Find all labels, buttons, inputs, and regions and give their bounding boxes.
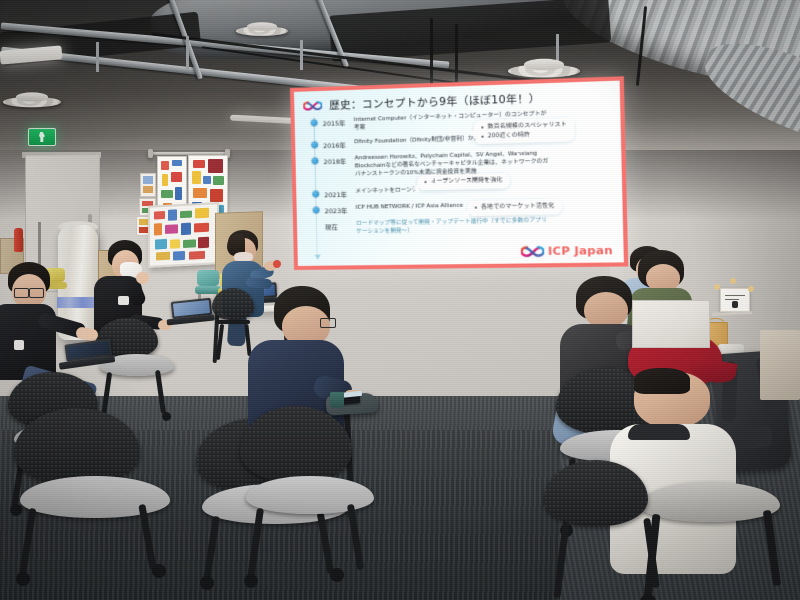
running-person-icon — [39, 132, 45, 142]
slide-footer-region: Japan — [574, 244, 613, 258]
timeline-dot — [311, 141, 318, 148]
chair-seat — [20, 476, 170, 518]
sign-decoration — [714, 284, 720, 290]
fire-extinguisher-icon — [14, 228, 23, 252]
chair-caster — [244, 574, 258, 588]
callout-tail — [469, 130, 475, 138]
tshirt-logo — [14, 340, 24, 350]
callout-item: 200近くの特許 — [480, 130, 567, 141]
timeline-dot — [311, 119, 318, 126]
exit-sign — [28, 128, 56, 146]
icp-infinity-logo-icon — [520, 245, 544, 259]
chair-caster — [200, 576, 214, 590]
hanger-rod-3 — [300, 40, 303, 70]
timeline-dot — [313, 206, 320, 213]
timeline-year: 2021年 — [324, 189, 350, 199]
chair-seat — [246, 476, 374, 514]
empty-chair-foreground-left[interactable] — [8, 408, 188, 578]
timeline-year: 現在 — [325, 222, 351, 231]
laptop-screen — [173, 300, 210, 317]
timeline-text: Dfinity Foundation（Dfinity財団/非営利）が設立 — [354, 135, 485, 147]
circular-air-diffuser-icon — [236, 26, 288, 36]
glasses-icon — [320, 318, 336, 328]
cardboard-stack — [760, 330, 800, 400]
sign-decoration-2 — [748, 286, 754, 292]
hair — [634, 368, 690, 394]
glasses-icon-2 — [29, 288, 44, 298]
drink-cup[interactable] — [330, 392, 344, 408]
slide-callout-2: オープンソース開発を強化 — [417, 173, 510, 190]
circular-air-diffuser-icon-2 — [508, 64, 580, 77]
hand — [136, 272, 149, 284]
callout-item: 各地でのマーケット活性化 — [474, 202, 555, 212]
slide-footer: ICP Japan — [520, 244, 613, 259]
timeline-text: ロードマップ等に従って開発・アップデート進行中（すでに多数のアプリケーションを開… — [356, 217, 551, 236]
chair-leg — [553, 522, 569, 598]
timeline-row-current: 現在 ロードマップ等に従って開発・アップデート進行中（すでに多数のアプリケーショ… — [311, 216, 615, 237]
dfinity-infinity-logo-icon — [303, 100, 322, 112]
circular-air-diffuser-icon-3 — [3, 97, 61, 108]
held-object — [273, 260, 281, 268]
timeline-year: 2018年 — [323, 156, 349, 166]
callout-tail — [462, 210, 468, 218]
timeline-year: 2016年 — [323, 140, 349, 150]
sign-decoration-3 — [730, 278, 736, 284]
meetup-room-photo: 歴史：コンセプトから9年（ほぼ10年！） 2015年 Internet Comp… — [0, 0, 800, 600]
chair-back — [14, 408, 140, 484]
chair-leg — [19, 508, 37, 578]
chair-back — [240, 406, 352, 482]
welcome-sign — [720, 288, 750, 312]
timeline-dot — [312, 190, 319, 197]
wall-small-photo — [140, 173, 156, 197]
timeline-dot — [311, 157, 318, 164]
timeline-text: ICP HUB NETWORK / ICP Asia Alliance — [356, 202, 464, 212]
timeline-year: 2015年 — [323, 118, 349, 128]
timeline-text: メインネットをローンチ — [355, 187, 417, 196]
chair-leg — [247, 508, 264, 580]
head — [584, 292, 628, 328]
chair-leg — [203, 516, 220, 582]
callout-item: オープンソース開発を強化 — [423, 176, 502, 187]
empty-chair-foreground-right[interactable] — [544, 460, 694, 600]
chair-back — [544, 460, 648, 526]
chair-caster — [16, 572, 30, 586]
projected-slide: 歴史：コンセプトから9年（ほぼ10年！） 2015年 Internet Comp… — [290, 76, 628, 270]
chair-leg — [216, 324, 224, 360]
hanger-rod — [96, 42, 99, 72]
slide-footer-brand: ICP — [548, 244, 571, 258]
callout-tail — [412, 184, 418, 192]
chair-leg-2 — [643, 518, 660, 588]
chair-leg-2 — [763, 510, 781, 586]
conduit-drop — [430, 18, 433, 88]
tshirt-collar — [628, 424, 690, 440]
sign-line-2 — [725, 299, 739, 300]
chair-caster-2 — [152, 564, 166, 578]
storage-unit — [632, 300, 710, 348]
timeline-year: 2023年 — [325, 206, 351, 216]
glasses-icon — [14, 288, 29, 298]
slide-callout: 数百名規模のスペシャリスト 200近くの特許 — [474, 117, 575, 144]
slide-callout-3: 各地でのマーケット活性化 — [467, 199, 562, 216]
attendee-center-chair[interactable] — [236, 406, 376, 581]
chair-leg-2 — [347, 504, 364, 570]
conduit-drop-2 — [455, 24, 458, 88]
sign-graphic — [732, 301, 738, 308]
rail-cap-left — [148, 149, 153, 158]
chair-leg-2 — [138, 504, 156, 570]
sign-line — [725, 295, 745, 296]
hanger-rod-2 — [186, 36, 189, 70]
slide-surface: 歴史：コンセプトから9年（ほぼ10年！） 2015年 Internet Comp… — [290, 76, 628, 270]
